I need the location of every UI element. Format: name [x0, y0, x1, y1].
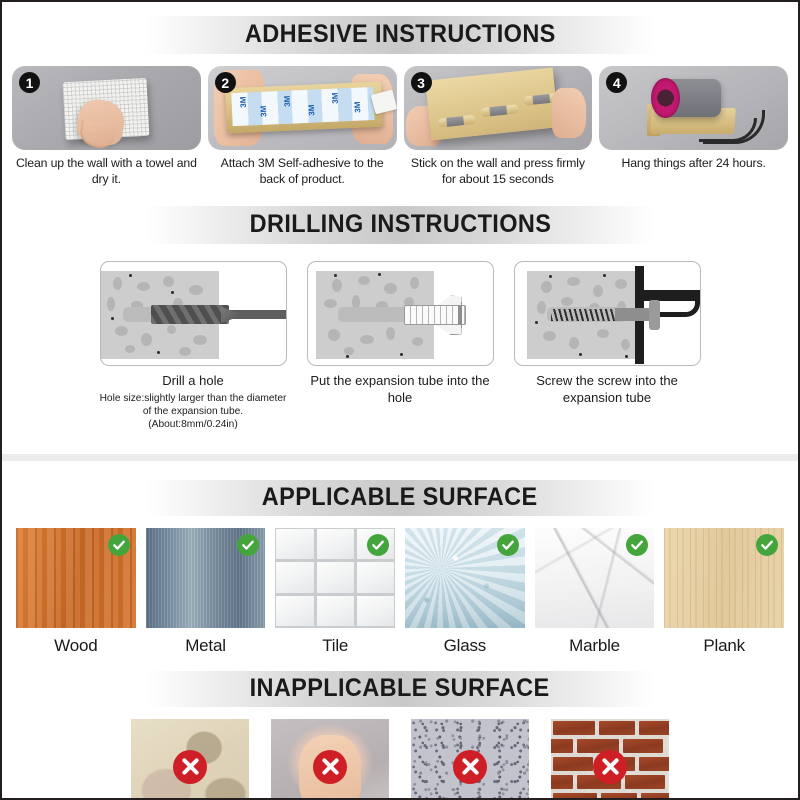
check-mark-icon	[237, 534, 259, 556]
check-mark-icon	[108, 534, 130, 556]
tile-swatch	[275, 528, 395, 628]
drill-caption-3: Screw the screw into the expansion tube	[514, 366, 701, 407]
inapplicable-section-title: INAPPLICABLE SURFACE	[250, 676, 550, 701]
painted-wall-swatch	[271, 719, 389, 800]
cross-mark-icon	[593, 750, 627, 784]
brick-swatch	[551, 719, 669, 800]
drill-subcaption-1: Hole size:slightly larger than the diame…	[100, 390, 287, 431]
hook-graphic	[437, 115, 476, 128]
step-number-badge: 1	[19, 72, 40, 93]
tape-logo: 3M	[353, 101, 362, 113]
surface-item-plank: Plank	[664, 528, 784, 656]
step-4-caption: Hang things after 24 hours.	[599, 150, 788, 172]
step-2-photo: 3M 3M 3M 3M 3M 3M 2	[208, 66, 397, 150]
hook-graphic	[480, 104, 519, 117]
screw-thread-graphic	[551, 309, 615, 321]
drill-caption-1: Drill a hole	[100, 366, 287, 390]
check-mark-icon	[756, 534, 778, 556]
step-4-photo: 4	[599, 66, 788, 150]
surface-item-wood: Wood	[16, 528, 136, 656]
tape-logo: 3M	[238, 96, 247, 108]
adhesive-tape-graphic: 3M 3M 3M 3M 3M 3M	[231, 87, 374, 126]
inapplicable-surfaces: Wallpaper Painted wall Rough Surface	[2, 719, 798, 800]
surface-label: Plank	[664, 628, 784, 656]
drilling-section-title: DRILLING INSTRUCTIONS	[249, 212, 551, 237]
surface-item-tile: Tile	[275, 528, 395, 656]
plank-swatch	[664, 528, 784, 628]
adhesive-steps: 1 Clean up the wall with a towel and dry…	[2, 66, 798, 187]
adhesive-step-1: 1 Clean up the wall with a towel and dry…	[12, 66, 201, 187]
drill-diagram-1	[100, 261, 287, 366]
applicable-surfaces: Wood Metal Tile	[2, 528, 798, 656]
bad-surface-item-bumpy: Bumpy	[551, 719, 669, 800]
step-number-badge: 4	[606, 72, 627, 93]
bad-surface-item-wallpaper: Wallpaper	[131, 719, 249, 800]
rough-surface-swatch	[411, 719, 529, 800]
surface-label: Marble	[535, 628, 655, 656]
surface-item-glass: Glass	[405, 528, 525, 656]
step-1-caption: Clean up the wall with a towel and dry i…	[12, 150, 201, 187]
check-mark-icon	[626, 534, 648, 556]
surface-label: Wood	[16, 628, 136, 656]
hand-right-graphic	[552, 88, 586, 138]
check-mark-icon	[497, 534, 519, 556]
surface-label: Tile	[275, 628, 395, 656]
drill-diagram-3	[514, 261, 701, 366]
tape-logo: 3M	[307, 104, 316, 116]
drill-caption-2: Put the expansion tube into the hole	[307, 366, 494, 407]
expansion-tube-graphic	[404, 305, 466, 325]
step-3-caption: Stick on the wall and press firmly for a…	[404, 150, 593, 187]
tube-fin-graphic	[436, 324, 462, 335]
tape-logo: 3M	[259, 106, 268, 118]
check-mark-icon	[367, 534, 389, 556]
adhesive-section-banner: ADHESIVE INSTRUCTIONS	[2, 16, 798, 54]
cross-mark-icon	[173, 750, 207, 784]
adhesive-step-2: 3M 3M 3M 3M 3M 3M 2 Attach 3M Self-adhes…	[208, 66, 397, 187]
metal-swatch	[146, 528, 266, 628]
tape-liner-peel-graphic	[370, 90, 396, 115]
drill-tip-graphic	[221, 306, 241, 323]
adhesive-step-3: 3 Stick on the wall and press firmly for…	[404, 66, 593, 187]
adhesive-section-title: ADHESIVE INSTRUCTIONS	[245, 22, 556, 47]
tube-fin-graphic	[436, 295, 462, 306]
section-divider	[2, 454, 798, 461]
cross-mark-icon	[453, 750, 487, 784]
surface-label: Glass	[405, 628, 525, 656]
step-1-photo: 1	[12, 66, 201, 150]
surface-item-metal: Metal	[146, 528, 266, 656]
instruction-page: ADHESIVE INSTRUCTIONS 1 Clean up the wal…	[0, 0, 800, 800]
applicable-section-title: APPLICABLE SURFACE	[262, 485, 538, 510]
step-3-photo: 3	[404, 66, 593, 150]
tape-logo: 3M	[282, 95, 291, 107]
wallpaper-swatch	[131, 719, 249, 800]
glass-swatch	[405, 528, 525, 628]
hook-rail-board-graphic	[425, 67, 559, 140]
drilling-diagrams	[2, 261, 798, 366]
bad-surface-item-painted-wall: Painted wall	[271, 719, 389, 800]
surface-label: Metal	[146, 628, 266, 656]
step-number-badge: 2	[215, 72, 236, 93]
tape-logo: 3M	[330, 92, 339, 104]
wood-swatch	[16, 528, 136, 628]
screw-head-graphic	[649, 300, 660, 330]
step-2-caption: Attach 3M Self-adhesive to the back of p…	[208, 150, 397, 187]
applicable-section-banner: APPLICABLE SURFACE	[2, 480, 798, 516]
drill-diagram-2	[307, 261, 494, 366]
drilling-section-banner: DRILLING INSTRUCTIONS	[2, 206, 798, 244]
marble-swatch	[535, 528, 655, 628]
drilled-hole-graphic	[338, 307, 410, 322]
drilling-captions: Drill a hole Hole size:slightly larger t…	[2, 366, 798, 431]
adhesive-step-4: 4 Hang things after 24 hours.	[599, 66, 788, 187]
bad-surface-item-rough-surface: Rough Surface	[411, 719, 529, 800]
step-number-badge: 3	[411, 72, 432, 93]
surface-item-marble: Marble	[535, 528, 655, 656]
gold-bar-graphic: 3M 3M 3M 3M 3M 3M	[225, 82, 383, 134]
drill-flute-graphic	[151, 305, 229, 324]
inapplicable-section-banner: INAPPLICABLE SURFACE	[2, 671, 798, 707]
cross-mark-icon	[313, 750, 347, 784]
